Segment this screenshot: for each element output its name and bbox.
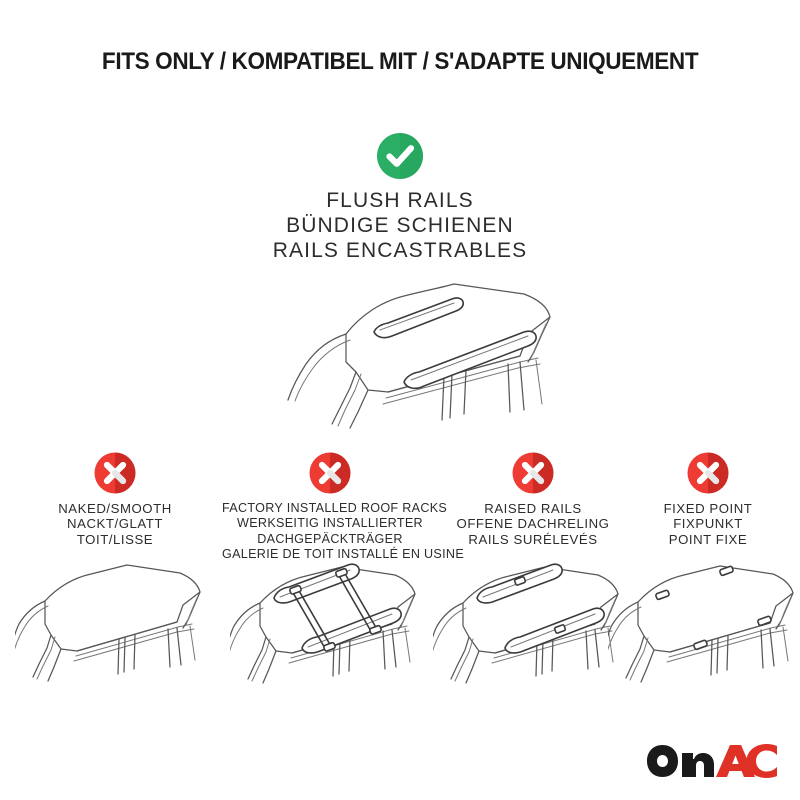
label-line-3: RAILS SURÉLEVÉS [438,532,628,547]
compatible-label-fr: RAILS ENCASTRABLES [0,238,800,263]
label-line-3: DACHGEPÄCKTRÄGER [222,532,438,547]
label-line-1: FIXED POINT [628,501,788,516]
incompatible-labels-raised-rails: RAISED RAILS OFFENE DACHRELING RAILS SUR… [438,501,628,547]
label-line-2: OFFENE DACHRELING [438,516,628,531]
omac-logo [646,744,778,778]
label-line-2: FIXPUNKT [628,516,788,531]
label-line-3: TOIT/LISSE [15,532,215,547]
label-line-1: RAISED RAILS [438,501,628,516]
compatible-label-en: FLUSH RAILS [0,188,800,213]
car-roof-naked-smooth-illustration [15,556,215,706]
car-roof-raised-rails-illustration [433,550,633,700]
incompatible-item-factory-roof-racks: FACTORY INSTALLED ROOF RACKS WERKSEITIG … [222,452,438,563]
compatible-label-de: BÜNDIGE SCHIENEN [0,213,800,238]
check-circle-icon [376,132,424,180]
compatible-section: FLUSH RAILS BÜNDIGE SCHIENEN RAILS ENCAS… [0,132,800,263]
x-circle-icon [687,452,729,494]
incompatible-item-naked-smooth: NAKED/SMOOTH NACKT/GLATT TOIT/LISSE [15,452,215,547]
label-line-2: WERKSEITIG INSTALLIERTER [222,516,438,531]
incompatible-item-raised-rails: RAISED RAILS OFFENE DACHRELING RAILS SUR… [438,452,628,547]
car-roof-factory-roof-racks-illustration [230,546,430,696]
incompatible-section: NAKED/SMOOTH NACKT/GLATT TOIT/LISSE [0,452,800,712]
page-title: FITS ONLY / KOMPATIBEL MIT / S'ADAPTE UN… [0,48,800,76]
car-roof-fixed-point-illustration [608,552,800,702]
label-line-1: NAKED/SMOOTH [15,501,215,516]
car-roof-with-flush-rails-illustration [228,272,588,437]
label-line-3: POINT FIXE [628,532,788,547]
compatible-labels: FLUSH RAILS BÜNDIGE SCHIENEN RAILS ENCAS… [0,188,800,263]
incompatible-item-fixed-point: FIXED POINT FIXPUNKT POINT FIXE [628,452,788,547]
label-line-1: FACTORY INSTALLED ROOF RACKS [222,501,438,516]
x-circle-icon [309,452,351,494]
incompatible-labels-fixed-point: FIXED POINT FIXPUNKT POINT FIXE [628,501,788,547]
incompatible-labels-naked-smooth: NAKED/SMOOTH NACKT/GLATT TOIT/LISSE [15,501,215,547]
x-circle-icon [94,452,136,494]
label-line-2: NACKT/GLATT [15,516,215,531]
x-circle-icon [512,452,554,494]
page-title-text: FITS ONLY / KOMPATIBEL MIT / S'ADAPTE UN… [102,48,698,76]
